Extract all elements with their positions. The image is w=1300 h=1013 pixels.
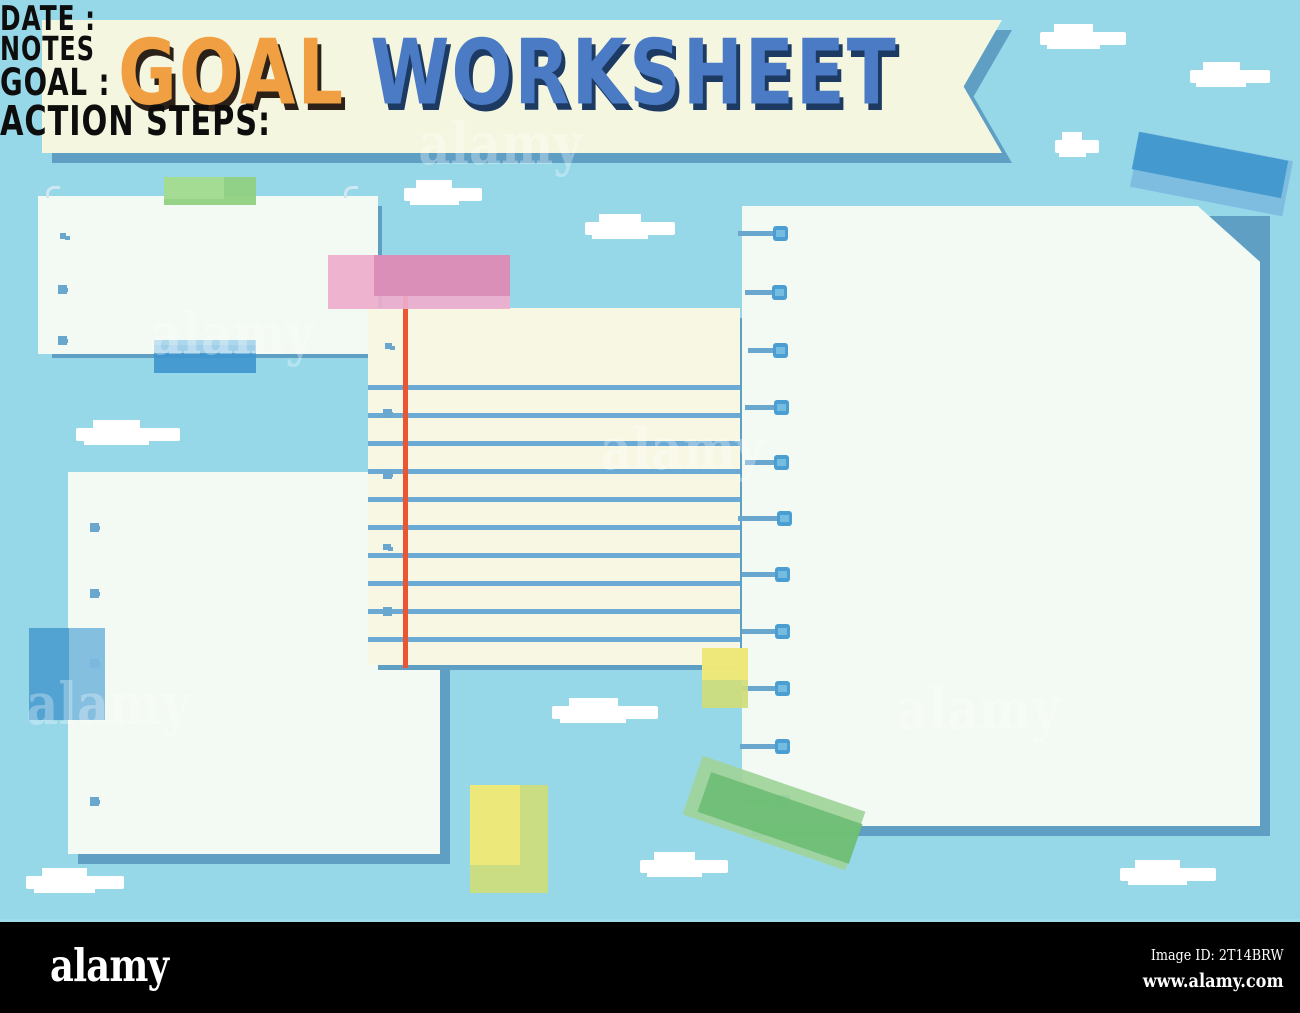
cloud-icon — [26, 876, 124, 889]
spiral-ring-icon — [745, 405, 783, 410]
punch-hole-icon — [383, 470, 392, 479]
date-card-curl-right — [344, 186, 358, 198]
action-steps-card[interactable] — [742, 206, 1260, 826]
spiral-ring-icon — [745, 290, 781, 295]
goal-rule-line — [368, 581, 740, 586]
tape-green-date-top-light — [164, 177, 224, 199]
spiral-ring-icon — [740, 744, 784, 749]
spiral-ring-icon — [742, 629, 784, 634]
date-card[interactable] — [38, 196, 378, 354]
punch-hole-icon — [90, 523, 99, 532]
punch-hole-icon — [383, 607, 392, 616]
goal-rule-line — [368, 441, 740, 446]
tape-yellow-center-bottom — [470, 785, 520, 865]
goal-rule-line — [368, 553, 740, 558]
cloud-icon — [1190, 70, 1270, 83]
action-steps-label: ACTION STEPS: — [0, 96, 1196, 145]
punch-hole-icon — [60, 233, 66, 239]
alamy-url-text: www.alamy.com — [1143, 967, 1284, 995]
goal-rule-line — [368, 637, 740, 642]
goal-rule-line — [368, 497, 740, 502]
date-card-curl-left — [46, 186, 60, 198]
spiral-ring-icon — [745, 460, 783, 465]
alamy-logo: alamy — [50, 943, 168, 988]
punch-hole-icon — [90, 589, 99, 598]
punch-hole-icon — [58, 336, 67, 345]
spiral-ring-icon — [738, 231, 782, 236]
goal-rule-line — [368, 413, 740, 418]
tape-blue-notes-left — [29, 628, 69, 720]
tape-blue-date-bottom-light — [154, 340, 256, 353]
goal-rule-line — [368, 609, 740, 614]
goal-rule-line — [368, 525, 740, 530]
punch-hole-icon — [58, 285, 67, 294]
punch-hole-icon — [383, 409, 392, 418]
cloud-icon — [404, 188, 482, 201]
cloud-icon — [585, 222, 675, 235]
footer-bar: alamy Image ID: 2T14BRW www.alamy.com — [0, 919, 1300, 1013]
goal-margin-line — [403, 296, 408, 668]
cloud-icon — [76, 428, 180, 441]
spiral-ring-icon — [742, 686, 784, 691]
spiral-ring-icon — [742, 572, 784, 577]
worksheet-poster: GOALWORKSHEET DATE : NOTES — [0, 0, 1300, 1013]
tape-yellow-goal-bottom — [702, 648, 748, 680]
spiral-ring-icon — [748, 348, 782, 353]
image-id-text: Image ID: 2T14BRW — [1143, 943, 1284, 967]
goal-rule-line — [368, 385, 740, 390]
punch-hole-icon — [385, 343, 392, 349]
sky-background: GOALWORKSHEET DATE : NOTES — [0, 0, 1300, 919]
goal-rule-line — [368, 469, 740, 474]
tape-pink-goal-top — [374, 255, 510, 296]
punch-hole-icon — [383, 544, 391, 550]
cloud-icon — [552, 706, 658, 719]
spiral-ring-icon — [738, 516, 786, 521]
punch-hole-icon — [90, 797, 99, 806]
footer-accent-rule — [0, 919, 1300, 922]
footer-meta: Image ID: 2T14BRW www.alamy.com — [1143, 943, 1284, 995]
cloud-icon — [1120, 868, 1216, 881]
cloud-icon — [640, 860, 728, 873]
